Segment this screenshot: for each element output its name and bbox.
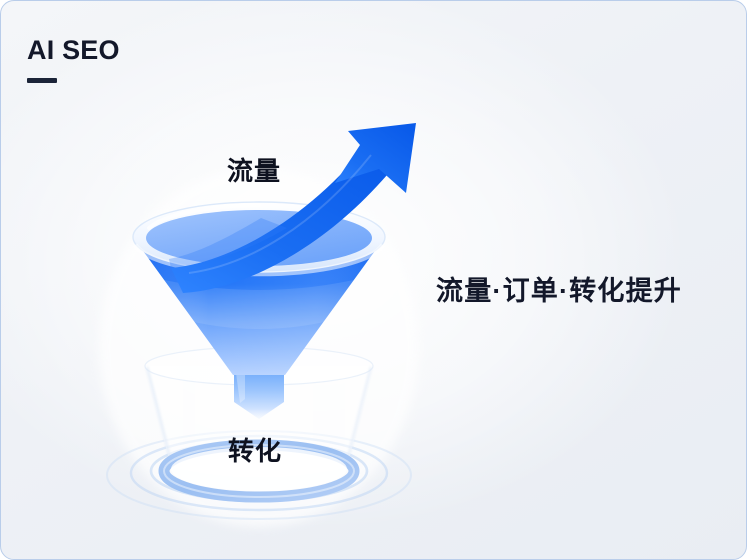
slide-canvas: AI SEO — [0, 0, 747, 560]
title-underline-accent — [27, 78, 57, 83]
funnel-label-conversion: 转化 — [228, 438, 282, 464]
title-block: AI SEO — [27, 37, 120, 83]
tagline-text: 流量·订单·转化提升 — [436, 275, 682, 307]
page-title: AI SEO — [27, 37, 120, 64]
funnel-label-traffic: 流量 — [227, 158, 281, 184]
